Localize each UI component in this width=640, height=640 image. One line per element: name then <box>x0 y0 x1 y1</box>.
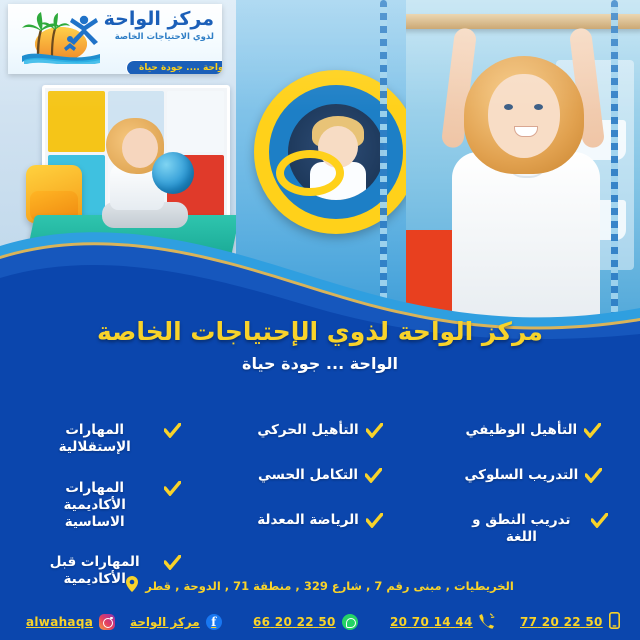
contact-facebook[interactable]: f مركز الواحة <box>130 614 222 630</box>
location-pin-icon <box>126 576 138 596</box>
logo-text-block: مركز الواحة لذوي الاحتياجات الخاصة <box>104 10 214 42</box>
address-row: الخريطيات , مبنى رقم 7 , شارع 329 , منطق… <box>0 576 640 596</box>
contact-mobile[interactable]: 50 22 20 77 <box>520 612 620 632</box>
logo-subtitle: لذوي الاحتياجات الخاصة <box>104 32 214 42</box>
service-label: التأهيل الحركي <box>257 422 358 439</box>
page-subtitle: الواحة ... جودة حياة <box>0 354 640 373</box>
whatsapp-icon <box>342 614 358 630</box>
service-item: التكامل الحسي <box>213 467 426 488</box>
phone-ringing-icon <box>479 613 495 632</box>
service-item: الرياضة المعدلة <box>213 512 426 533</box>
page-title: مركز الواحة لذوي الإحتياجات الخاصة <box>0 318 640 346</box>
mobile-phone-icon <box>609 612 620 632</box>
service-label: المهارات الإستقلالية <box>32 422 157 456</box>
instagram-icon <box>99 614 115 630</box>
service-label: التأهيل الوظيفي <box>466 422 578 439</box>
check-icon <box>591 513 608 533</box>
contact-bar: alwahaqa f مركز الواحة 50 22 20 66 44 14… <box>0 604 640 640</box>
contact-whatsapp[interactable]: 50 22 20 66 <box>253 614 358 630</box>
brand-logo[interactable]: مركز الواحة لذوي الاحتياجات الخاصة الواح… <box>8 4 222 74</box>
sensory-ball <box>152 152 194 194</box>
tunnel-ring <box>276 150 344 196</box>
service-label: تدريب النطق و اللغة <box>459 512 584 546</box>
check-icon <box>164 423 181 443</box>
check-icon <box>164 481 181 501</box>
service-label: التدريب السلوكي <box>464 467 578 484</box>
service-label: المهارات الأكاديمية الاساسية <box>32 480 157 531</box>
services-column-right: التأهيل الوظيفي التدريب السلوكي تدريب ال… <box>427 410 640 588</box>
facebook-page-name: مركز الواحة <box>130 615 200 629</box>
logo-tagline-badge: الواحة .... جودة حياة <box>126 60 222 74</box>
services-column-left: المهارات الإستقلالية المهارات الأكاديمية… <box>0 410 213 588</box>
check-icon <box>585 468 602 488</box>
check-icon <box>164 555 181 575</box>
poster-canvas: مركز الواحة لذوي الإحتياجات الخاصة الواح… <box>0 0 640 640</box>
telephone-number: 44 14 70 20 <box>390 615 473 629</box>
service-item: التدريب السلوكي <box>427 467 640 488</box>
check-icon <box>365 468 382 488</box>
headline-block: مركز الواحة لذوي الإحتياجات الخاصة الواح… <box>0 318 640 400</box>
service-label: الرياضة المعدلة <box>257 512 359 529</box>
check-icon <box>584 423 601 443</box>
logo-title: مركز الواحة <box>104 10 214 29</box>
address-text: الخريطيات , مبنى رقم 7 , شارع 329 , منطق… <box>145 579 514 593</box>
instagram-handle: alwahaqa <box>26 615 93 629</box>
facebook-icon: f <box>206 614 222 630</box>
whatsapp-number: 50 22 20 66 <box>253 615 336 629</box>
check-icon <box>366 423 383 443</box>
service-item: المهارات الإستقلالية <box>0 422 213 456</box>
contact-telephone[interactable]: 44 14 70 20 <box>390 613 495 632</box>
check-icon <box>366 513 383 533</box>
service-item: التأهيل الوظيفي <box>427 422 640 443</box>
service-label: التكامل الحسي <box>258 467 358 484</box>
service-item: المهارات الأكاديمية الاساسية <box>0 480 213 531</box>
mobile-number: 50 22 20 77 <box>520 615 603 629</box>
services-column-middle: التأهيل الحركي التكامل الحسي الرياضة الم… <box>213 410 426 588</box>
services-list: التأهيل الوظيفي التدريب السلوكي تدريب ال… <box>0 410 640 550</box>
service-item: تدريب النطق و اللغة <box>427 512 640 546</box>
contact-instagram[interactable]: alwahaqa <box>26 614 115 630</box>
palm-tree-and-person-logo-icon <box>18 10 104 64</box>
service-item: التأهيل الحركي <box>213 422 426 443</box>
